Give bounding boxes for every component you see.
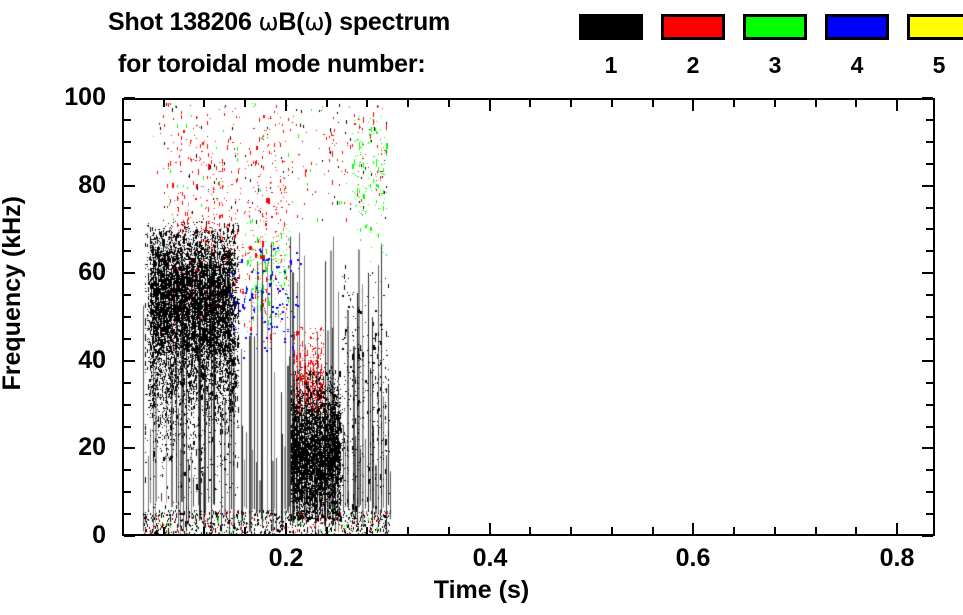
y-tick-minor-right bbox=[926, 404, 933, 406]
figure-title-line-2: for toroidal mode number: bbox=[118, 50, 426, 79]
x-tick-major-0.4 bbox=[489, 523, 491, 534]
legend-swatch-2 bbox=[661, 14, 725, 40]
y-tick-minor-right bbox=[926, 163, 933, 165]
y-tick-minor-right bbox=[926, 141, 933, 143]
y-tick-major-20 bbox=[124, 447, 135, 449]
legend-swatch-4 bbox=[825, 14, 889, 40]
spectrogram-canvas bbox=[124, 100, 933, 534]
x-tick-major-top-0.4 bbox=[489, 100, 491, 111]
y-tick-minor bbox=[124, 119, 131, 121]
y-tick-minor-right bbox=[926, 513, 933, 515]
legend-label-1: 1 bbox=[579, 54, 643, 77]
y-axis-title: Frequency (kHz) bbox=[0, 196, 25, 390]
x-tick-label-0.2: 0.2 bbox=[236, 546, 336, 571]
y-tick-label-80: 80 bbox=[0, 173, 106, 198]
x-tick-minor-top bbox=[815, 100, 817, 107]
y-tick-minor-right bbox=[926, 491, 933, 493]
y-tick-minor bbox=[124, 469, 131, 471]
y-tick-major-0 bbox=[124, 535, 135, 537]
omega-symbol-1: ω bbox=[258, 8, 278, 36]
title-mid: B( bbox=[278, 8, 304, 36]
title-suffix: ) spectrum bbox=[324, 8, 450, 36]
y-tick-minor bbox=[124, 404, 131, 406]
x-tick-label-0.6: 0.6 bbox=[643, 546, 743, 571]
x-tick-minor-top bbox=[733, 100, 735, 107]
y-tick-minor bbox=[124, 513, 131, 515]
y-tick-minor-right bbox=[926, 338, 933, 340]
x-tick-minor-top bbox=[855, 100, 857, 107]
x-tick-major-0.6 bbox=[692, 523, 694, 534]
x-tick-minor bbox=[855, 527, 857, 534]
legend-item-3[interactable]: 3 bbox=[743, 14, 807, 77]
x-tick-minor-top bbox=[448, 100, 450, 107]
x-tick-minor bbox=[366, 527, 368, 534]
x-tick-minor bbox=[570, 527, 572, 534]
y-tick-minor bbox=[124, 316, 131, 318]
x-tick-label-0.8: 0.8 bbox=[847, 546, 947, 571]
x-axis-title: Time (s) bbox=[0, 578, 963, 603]
x-tick-minor-top bbox=[244, 100, 246, 107]
x-tick-minor-top bbox=[529, 100, 531, 107]
y-tick-major-right-40 bbox=[922, 360, 933, 362]
y-tick-major-100 bbox=[124, 97, 135, 99]
x-tick-major-top-0.6 bbox=[692, 100, 694, 111]
y-tick-minor-right bbox=[926, 382, 933, 384]
y-tick-major-60 bbox=[124, 272, 135, 274]
y-tick-major-right-100 bbox=[922, 97, 933, 99]
plot-area bbox=[122, 98, 935, 536]
legend-label-3: 3 bbox=[743, 54, 807, 77]
y-tick-minor-right bbox=[926, 426, 933, 428]
y-tick-major-right-80 bbox=[922, 185, 933, 187]
y-tick-major-40 bbox=[124, 360, 135, 362]
x-tick-minor-top bbox=[326, 100, 328, 107]
y-tick-minor-right bbox=[926, 119, 933, 121]
y-tick-minor-right bbox=[926, 316, 933, 318]
legend-swatch-5 bbox=[907, 14, 963, 40]
x-tick-minor-top bbox=[407, 100, 409, 107]
y-tick-minor bbox=[124, 141, 131, 143]
x-tick-minor bbox=[326, 527, 328, 534]
y-tick-minor-right bbox=[926, 250, 933, 252]
y-tick-minor-right bbox=[926, 207, 933, 209]
legend-swatch-3 bbox=[743, 14, 807, 40]
x-tick-minor-top bbox=[652, 100, 654, 107]
legend: 12345 bbox=[579, 14, 939, 88]
omega-symbol-2: ω bbox=[304, 8, 324, 36]
legend-item-4[interactable]: 4 bbox=[825, 14, 889, 77]
x-tick-minor-top bbox=[611, 100, 613, 107]
x-tick-minor-top bbox=[366, 100, 368, 107]
legend-item-2[interactable]: 2 bbox=[661, 14, 725, 77]
x-tick-minor bbox=[815, 527, 817, 534]
x-tick-major-0.8 bbox=[896, 523, 898, 534]
y-tick-major-80 bbox=[124, 185, 135, 187]
y-tick-label-20: 20 bbox=[0, 435, 106, 460]
x-tick-minor bbox=[733, 527, 735, 534]
y-tick-major-right-20 bbox=[922, 447, 933, 449]
y-tick-minor-right bbox=[926, 228, 933, 230]
y-tick-minor bbox=[124, 250, 131, 252]
y-tick-minor bbox=[124, 426, 131, 428]
legend-label-2: 2 bbox=[661, 54, 725, 77]
x-tick-minor bbox=[652, 527, 654, 534]
y-tick-label-100: 100 bbox=[0, 85, 106, 110]
y-tick-minor bbox=[124, 228, 131, 230]
x-tick-major-top-0.2 bbox=[285, 100, 287, 111]
x-tick-minor-top bbox=[122, 100, 124, 107]
legend-label-5: 5 bbox=[907, 54, 963, 77]
x-tick-minor-top bbox=[570, 100, 572, 107]
x-tick-minor bbox=[774, 527, 776, 534]
x-tick-minor bbox=[122, 527, 124, 534]
y-tick-minor bbox=[124, 163, 131, 165]
legend-item-1[interactable]: 1 bbox=[579, 14, 643, 77]
x-tick-minor bbox=[407, 527, 409, 534]
figure-title-line-1: Shot 138206 ωB(ω) spectrum bbox=[108, 8, 450, 37]
spectrogram-figure: Shot 138206 ωB(ω) spectrum for toroidal … bbox=[0, 0, 963, 615]
x-tick-minor-top bbox=[203, 100, 205, 107]
y-tick-major-right-60 bbox=[922, 272, 933, 274]
title-prefix: Shot 138206 bbox=[108, 8, 258, 36]
legend-swatch-1 bbox=[579, 14, 643, 40]
x-tick-minor-top bbox=[163, 100, 165, 107]
x-tick-major-0.2 bbox=[285, 523, 287, 534]
x-tick-major-top-0.8 bbox=[896, 100, 898, 111]
y-tick-minor bbox=[124, 382, 131, 384]
y-tick-label-0: 0 bbox=[0, 523, 106, 548]
y-tick-minor bbox=[124, 207, 131, 209]
x-tick-minor bbox=[163, 527, 165, 534]
x-tick-minor bbox=[611, 527, 613, 534]
y-tick-major-right-0 bbox=[922, 535, 933, 537]
legend-label-4: 4 bbox=[825, 54, 889, 77]
x-tick-minor-top bbox=[774, 100, 776, 107]
y-tick-minor bbox=[124, 294, 131, 296]
y-tick-minor-right bbox=[926, 469, 933, 471]
x-tick-label-0.4: 0.4 bbox=[440, 546, 540, 571]
x-tick-minor bbox=[244, 527, 246, 534]
legend-item-5[interactable]: 5 bbox=[907, 14, 963, 77]
x-tick-minor bbox=[203, 527, 205, 534]
y-tick-minor-right bbox=[926, 294, 933, 296]
x-tick-minor bbox=[448, 527, 450, 534]
y-tick-minor bbox=[124, 491, 131, 493]
y-tick-minor bbox=[124, 338, 131, 340]
x-tick-minor bbox=[529, 527, 531, 534]
